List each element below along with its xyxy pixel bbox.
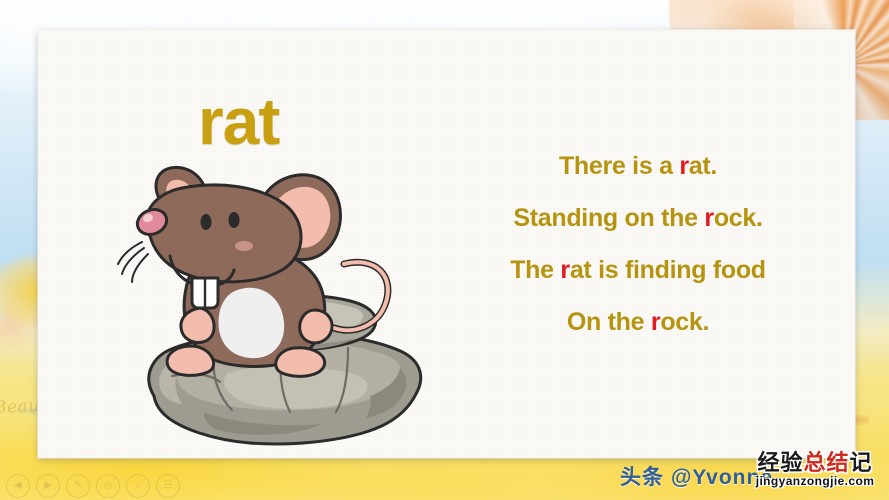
pen-button[interactable]: ✎ <box>66 474 90 498</box>
page-title: rat <box>198 88 279 154</box>
search-button[interactable]: ⌕ <box>126 474 150 498</box>
rat-head <box>146 185 301 282</box>
line-1-post: at. <box>689 152 717 180</box>
prev-button[interactable]: ◀ <box>6 474 30 498</box>
rat-paw-left <box>181 308 214 343</box>
rat-eye-left <box>201 214 212 230</box>
line-1-highlight: r <box>679 152 688 180</box>
sentence-line-3: The rat is finding food <box>443 244 833 296</box>
camera-button[interactable]: ◎ <box>96 474 120 498</box>
line-4-highlight: r <box>651 308 660 336</box>
line-1-pre: There is a <box>559 152 679 180</box>
sentence-block: There is a rat. Standing on the rock. Th… <box>443 140 833 348</box>
rat-on-rock-illustration <box>108 160 438 450</box>
line-3-post: at is finding food <box>570 256 766 284</box>
mini-toolbar: ◀ ▶ ✎ ◎ ⌕ ☷ <box>6 474 180 498</box>
line-3-pre: The <box>510 256 560 284</box>
sentence-line-2: Standing on the rock. <box>443 192 833 244</box>
site-watermark-url: jingyanzongjie.com <box>745 475 885 487</box>
rat-foot-left <box>167 346 214 375</box>
line-3-highlight: r <box>560 256 569 284</box>
line-2-highlight: r <box>704 204 713 232</box>
sentence-line-1: There is a rat. <box>443 140 833 192</box>
slide-canvas: Beautiful ◀ ▶ ✎ ◎ ⌕ ☷ rat <box>0 0 889 500</box>
sentence-line-4: On the rock. <box>443 296 833 348</box>
slide-card: rat <box>38 30 855 458</box>
rat-paw-right <box>300 310 332 343</box>
rat-eye-right <box>229 212 240 228</box>
line-4-pre: On the <box>567 308 651 336</box>
grid-button[interactable]: ☷ <box>156 474 180 498</box>
line-4-post: ock. <box>660 308 709 336</box>
line-2-pre: Standing on the <box>513 204 704 232</box>
rat-foot-right <box>276 348 325 377</box>
line-2-post: ock. <box>714 204 763 232</box>
play-button[interactable]: ▶ <box>36 474 60 498</box>
